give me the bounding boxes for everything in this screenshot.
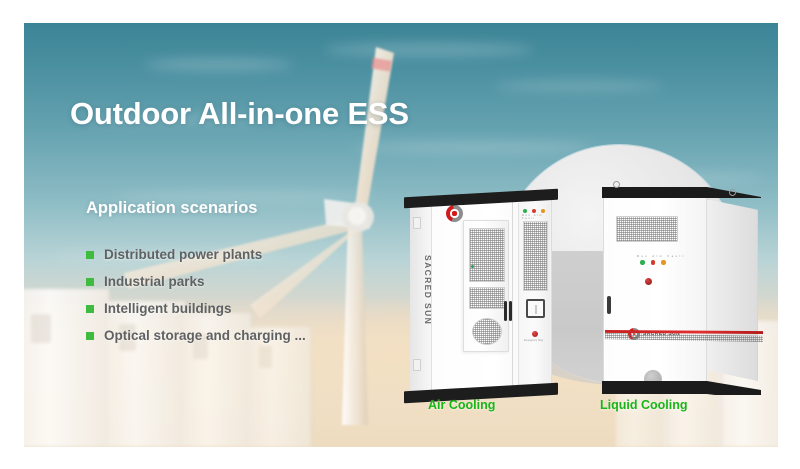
cabinet-door-handle[interactable] (607, 296, 611, 314)
list-item: Distributed power plants (86, 241, 306, 268)
product-air-cooling-cabinet: SACRED SUN Run Alm Fault Emergency Stop (400, 189, 564, 403)
sacred-sun-logo-icon (446, 205, 463, 222)
bullet-square-icon (86, 278, 94, 286)
emergency-stop-button[interactable] (645, 278, 652, 285)
cabinet-door-handle[interactable] (504, 301, 507, 321)
alarm-led-icon (651, 260, 656, 265)
page-title: Outdoor All-in-one ESS (70, 96, 409, 132)
list-item: Industrial parks (86, 268, 306, 295)
cabinet-hinge (413, 359, 421, 371)
brand-name-vertical: SACRED SUN (423, 255, 433, 325)
caption-air-cooling: Air Cooling (428, 398, 495, 412)
product-liquid-cooling-cabinet: Run Alm Fault SACRED SUN (599, 179, 767, 409)
caption-liquid-cooling: Liquid Cooling (600, 398, 687, 412)
cabinet-base-plinth (599, 381, 761, 395)
bullet-square-icon (86, 305, 94, 313)
list-item-label: Intelligent buildings (104, 301, 232, 316)
ac-status-led (471, 265, 474, 268)
emergency-stop-label: Emergency Stop (524, 339, 543, 342)
application-scenario-list: Distributed power plants Industrial park… (86, 241, 306, 349)
ventilation-grille (616, 216, 678, 242)
cabinet-hinge (413, 217, 421, 229)
ac-intake-grille (469, 228, 505, 282)
list-item-label: Distributed power plants (104, 247, 262, 262)
list-item-label: Optical storage and charging ... (104, 328, 306, 343)
status-led-group (640, 260, 666, 265)
hmi-display-screen[interactable] (526, 299, 545, 318)
ventilation-grille (523, 221, 548, 291)
ac-lower-grille (469, 287, 505, 309)
section-subtitle: Application scenarios (86, 199, 257, 218)
led-labels: Run Alm Fault (637, 254, 686, 258)
run-led-icon (640, 260, 645, 265)
cabinet-door-handle[interactable] (509, 301, 512, 321)
emergency-stop-button[interactable] (532, 331, 538, 337)
list-item: Intelligent buildings (86, 295, 306, 322)
lifting-lug-icon (613, 181, 620, 188)
lifting-lug-icon (729, 189, 736, 196)
cabinet-side-face (706, 199, 758, 381)
cabinet-top-cap (599, 187, 761, 198)
cabinet-door-seam (512, 201, 513, 389)
control-panel: Run Alm Fault Emergency Stop (518, 203, 550, 387)
run-led-icon (523, 209, 527, 213)
ac-fan-icon (472, 318, 502, 345)
led-labels: Run Alm Fault (522, 214, 550, 220)
list-item: Optical storage and charging ... (86, 322, 306, 349)
slide-canvas: Outdoor All-in-one ESS Application scena… (24, 23, 778, 447)
status-led-group (523, 209, 545, 213)
air-conditioning-unit (463, 220, 509, 352)
fault-led-icon (661, 260, 666, 265)
bullet-square-icon (86, 332, 94, 340)
list-item-label: Industrial parks (104, 274, 205, 289)
bullet-square-icon (86, 251, 94, 259)
alarm-led-icon (532, 209, 536, 213)
fault-led-icon (541, 209, 545, 213)
cabinet-front-face: Run Alm Fault SACRED SUN (603, 193, 707, 389)
